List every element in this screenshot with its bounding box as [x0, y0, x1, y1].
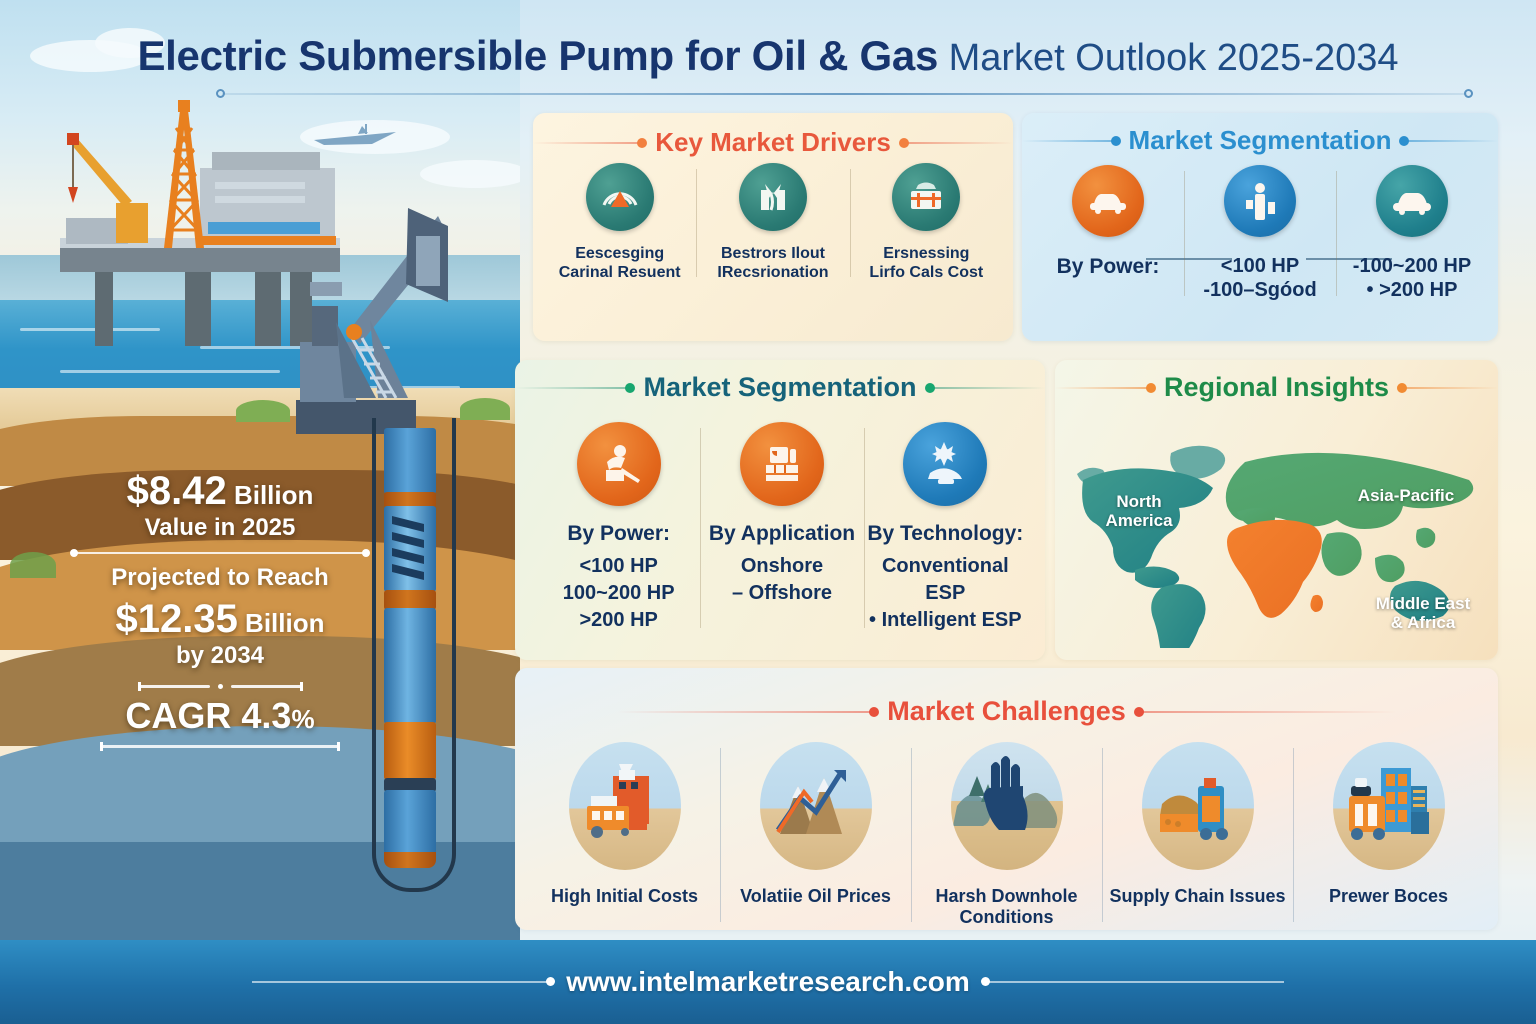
footer-divider-right [984, 981, 1284, 983]
world-map: North America Asia-Pacific Middle East &… [1069, 408, 1484, 648]
segmentation-top-item-1[interactable]: <100 HP -100–Sgóod [1184, 165, 1336, 302]
driver-label-2: Ersnessing Lirfo Cals Cost [869, 245, 983, 283]
supply-truck-icon [1142, 742, 1254, 870]
cloud [420, 160, 520, 188]
drivers-columns: Eescesging Carinal Resuent Bestrors Ilou… [543, 163, 1003, 283]
segmentation-top-item-0[interactable]: By Power: [1032, 165, 1184, 302]
rising-chart-icon [760, 742, 872, 870]
gauge-icon [586, 163, 654, 231]
cagr-divider [60, 684, 380, 689]
value-2025-number: $8.42 [127, 469, 227, 513]
segmentation-mid-columns: By Power: <100 HP 100~200 HP >200 HP [537, 422, 1027, 634]
segmentation-top-label-1: <100 HP -100–Sgóod [1203, 255, 1316, 302]
esp-intake [384, 852, 436, 868]
car-icon [1072, 165, 1144, 237]
factory-truck-icon [569, 742, 681, 870]
segmentation-top-label-2: -100~200 HP • >200 HP [1353, 255, 1471, 302]
segmentation-top-columns: By Power: <100 HP -100–Sgóod [1032, 165, 1488, 302]
challenge-label-4: Prewer Boces [1329, 886, 1448, 907]
value-2034-number: $12.35 [115, 597, 237, 641]
challenge-label-0: High Initial Costs [551, 886, 698, 907]
segmentation-top-heading: Market Segmentation [1022, 125, 1498, 156]
segmentation-top-label-0: By Power: [1057, 255, 1160, 280]
pump-icon [739, 163, 807, 231]
grass [236, 400, 290, 422]
segmentation-top-heading-text: Market Segmentation [1129, 125, 1392, 156]
facility-truck-icon [1333, 742, 1445, 870]
title-normal: Market Outlook 2025-2034 [938, 37, 1399, 79]
driver-item-0[interactable]: Eescesging Carinal Resuent [543, 163, 696, 283]
pumpjack-arm [330, 192, 450, 412]
worker-icon [1224, 165, 1296, 237]
drilling-worker-icon [577, 422, 661, 506]
challenge-label-2: Harsh Downhole Conditions [911, 886, 1102, 928]
esp-section [384, 590, 436, 610]
segmentation-top-item-2[interactable]: -100~200 HP • >200 HP [1336, 165, 1488, 302]
value-2025-unit: Billion [227, 480, 314, 510]
driver-item-1[interactable]: Bestrors Ilout IRecsrionation [696, 163, 849, 283]
regional-heading: Regional Insights [1055, 372, 1498, 403]
esp-stage-section [384, 506, 436, 592]
page-title: Electric Submersible Pump for Oil & Gas … [0, 32, 1536, 80]
segmentation-mid-item-2[interactable]: By Technology: Conventional ESP • Intell… [864, 422, 1027, 634]
drivers-heading: Key Market Drivers [533, 127, 1013, 158]
value-2025: $8.42 Billion [60, 470, 380, 512]
map-label-middle-east-africa: Middle East & Africa [1369, 594, 1477, 632]
value-2025-label: Value in 2025 [60, 514, 380, 542]
regional-heading-text: Regional Insights [1164, 372, 1389, 403]
infographic-canvas: Electric Submersible Pump for Oil & Gas … [0, 0, 1536, 1024]
segmentation-mid-heading-text: Market Segmentation [643, 372, 916, 403]
segmentation-mid-title-0: By Power: [567, 522, 670, 547]
grass [10, 552, 56, 578]
projected-label: Projected to Reach [60, 564, 380, 592]
market-challenges-panel: Market Challenges [515, 668, 1498, 930]
footer-divider-left [252, 981, 552, 983]
esp-motor-section [384, 608, 436, 724]
value-2034: $12.35 Billion [60, 598, 380, 640]
drivers-heading-text: Key Market Drivers [655, 127, 891, 158]
segmentation-mid-heading: Market Segmentation [515, 372, 1045, 403]
challenge-item-3[interactable]: Supply Chain Issues [1102, 742, 1293, 928]
esp-section [384, 722, 436, 780]
segmentation-mid-lines-0: <100 HP 100~200 HP >200 HP [563, 553, 675, 634]
value-2034-label: by 2034 [60, 642, 380, 670]
footer-bar: www.intelmarketresearch.com [0, 940, 1536, 1024]
regional-insights-panel: Regional Insights [1055, 360, 1498, 660]
platform-icon [740, 422, 824, 506]
cagr-label: CAGR [125, 695, 241, 736]
market-segmentation-mid-panel: Market Segmentation By Power: <100 HP 10… [515, 360, 1045, 660]
cagr-unit: % [291, 704, 314, 734]
challenge-item-2[interactable]: Harsh Downhole Conditions [911, 742, 1102, 928]
segmentation-mid-title-1: By Application [709, 522, 855, 547]
grass [460, 398, 510, 420]
value-2034-unit: Billion [238, 608, 325, 638]
segmentation-mid-item-0[interactable]: By Power: <100 HP 100~200 HP >200 HP [537, 422, 700, 634]
title-bold: Electric Submersible Pump for Oil & Gas [137, 32, 938, 79]
segmentation-mid-item-1[interactable]: By Application Onshore – Offshore [700, 422, 863, 634]
map-label-north-america: North America [1093, 492, 1185, 530]
footer-url[interactable]: www.intelmarketresearch.com [566, 966, 970, 998]
toolbox-icon [892, 163, 960, 231]
segmentation-mid-lines-1: Onshore – Offshore [732, 553, 832, 607]
challenges-columns: High Initial Costs Volatiie Oil Prices [529, 742, 1484, 928]
stats-divider [74, 552, 366, 554]
driver-label-1: Bestrors Ilout IRecsrionation [717, 245, 828, 283]
esp-section [384, 428, 436, 494]
market-segmentation-top-panel: Market Segmentation By Power: [1022, 113, 1498, 341]
challenge-item-1[interactable]: Volatiie Oil Prices [720, 742, 911, 928]
car-icon [1376, 165, 1448, 237]
turbine-icon [903, 422, 987, 506]
challenge-item-0[interactable]: High Initial Costs [529, 742, 720, 928]
cagr-number: 4.3 [241, 695, 291, 736]
challenge-item-4[interactable]: Prewer Boces [1293, 742, 1484, 928]
challenge-label-3: Supply Chain Issues [1109, 886, 1285, 907]
crane-icon [58, 125, 178, 255]
cagr-value: CAGR 4.3% [60, 695, 380, 737]
boat-icon [310, 120, 400, 150]
map-label-asia-pacific: Asia-Pacific [1351, 486, 1461, 505]
impeller-icon [384, 506, 436, 592]
title-divider [222, 93, 1467, 95]
challenges-heading: Market Challenges [515, 696, 1498, 727]
cagr-underline [100, 745, 340, 748]
driver-label-0: Eescesging Carinal Resuent [559, 245, 681, 283]
key-market-drivers-panel: Key Market Drivers Eescesging Carinal Re… [533, 113, 1013, 341]
challenges-heading-text: Market Challenges [887, 696, 1126, 727]
market-value-stats: $8.42 Billion Value in 2025 Projected to… [60, 470, 380, 748]
segmentation-mid-lines-2: Conventional ESP • Intelligent ESP [864, 553, 1027, 634]
desert-hand-icon [951, 742, 1063, 870]
segmentation-mid-title-2: By Technology: [867, 522, 1023, 547]
esp-section [384, 790, 436, 854]
driver-item-2[interactable]: Ersnessing Lirfo Cals Cost [850, 163, 1003, 283]
challenge-label-1: Volatiie Oil Prices [740, 886, 891, 907]
